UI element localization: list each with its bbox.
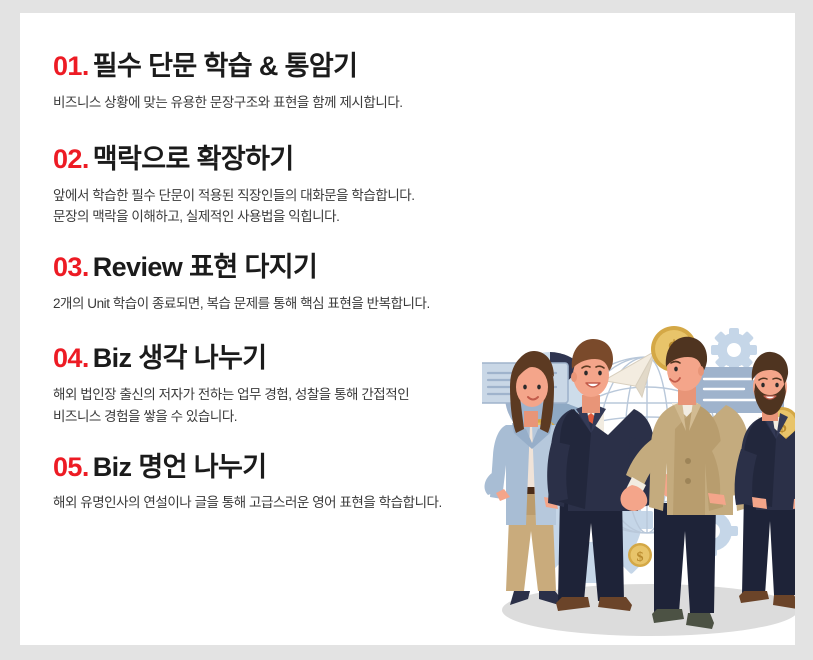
item-title: 맥락으로 확장하기 xyxy=(93,144,294,174)
list-item: 05.Biz 명언 나누기 해외 유명인사의 연설이나 글을 통해 고급스러운 … xyxy=(53,452,523,515)
gear-icon-top-right xyxy=(711,328,757,372)
item-number: 01. xyxy=(53,51,89,81)
item-title: 필수 단문 학습 & 통암기 xyxy=(93,51,358,81)
coin-dollar: $ xyxy=(628,543,652,567)
list-item: 04.Biz 생각 나누기 해외 법인장 출신의 저자가 전하는 업무 경험, … xyxy=(53,343,523,428)
item-title: Biz 명언 나누기 xyxy=(93,452,267,482)
item-description-line: 앞에서 학습한 필수 단문이 적용된 직장인들의 대화문을 학습합니다. xyxy=(53,185,523,207)
item-heading: 05.Biz 명언 나누기 xyxy=(53,452,523,484)
list-item: 01.필수 단문 학습 & 통암기 비즈니스 상황에 맞는 유용한 문장구조와 … xyxy=(53,51,523,114)
list-item: 02.맥락으로 확장하기 앞에서 학습한 필수 단문이 적용된 직장인들의 대화… xyxy=(53,144,523,229)
item-number: 05. xyxy=(53,452,89,482)
item-heading: 02.맥락으로 확장하기 xyxy=(53,144,523,176)
item-title: Biz 생각 나누기 xyxy=(93,343,267,373)
business-handshake-illustration: $ $ $ $ xyxy=(482,325,795,645)
item-description-line: 비즈니스 상황에 맞는 유용한 문장구조와 표현을 함께 제시합니다. xyxy=(53,92,523,114)
item-heading: 01.필수 단문 학습 & 통암기 xyxy=(53,51,523,83)
item-heading: 04.Biz 생각 나누기 xyxy=(53,343,523,375)
item-description-line: 문장의 맥락을 이해하고, 실제적인 사용법을 익힙니다. xyxy=(53,206,523,228)
item-heading: 03.Review 표현 다지기 xyxy=(53,252,523,284)
list-item: 03.Review 표현 다지기 2개의 Unit 학습이 종료되면, 복습 문… xyxy=(53,252,523,315)
item-description-line: 해외 유명인사의 연설이나 글을 통해 고급스러운 영어 표현을 학습합니다. xyxy=(53,492,523,514)
item-description-line: 비즈니스 경험을 쌓을 수 있습니다. xyxy=(53,406,523,428)
item-number: 02. xyxy=(53,144,89,174)
item-description-line: 해외 법인장 출신의 저자가 전하는 업무 경험, 성찰을 통해 간접적인 xyxy=(53,384,523,406)
item-description-line: 2개의 Unit 학습이 종료되면, 복습 문제를 통해 핵심 표현을 반복합니… xyxy=(53,293,523,315)
content-card: 01.필수 단문 학습 & 통암기 비즈니스 상황에 맞는 유용한 문장구조와 … xyxy=(20,13,795,645)
svg-text:$: $ xyxy=(637,550,644,565)
item-title: Review 표현 다지기 xyxy=(93,252,317,282)
feature-list: 01.필수 단문 학습 & 통암기 비즈니스 상황에 맞는 유용한 문장구조와 … xyxy=(53,51,523,514)
item-number: 03. xyxy=(53,252,89,282)
item-number: 04. xyxy=(53,343,89,373)
